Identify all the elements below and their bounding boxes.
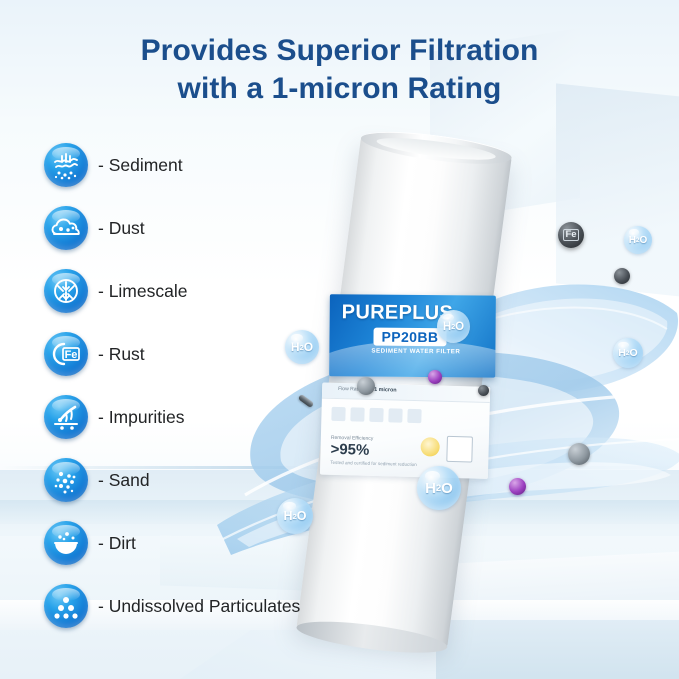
brand-name: PUREPLUS (342, 301, 454, 325)
h2o-bubble: H2O (285, 330, 319, 364)
feature-label: - Limescale (98, 281, 187, 302)
impurities-icon (44, 395, 88, 439)
feature-item-rust: Fe - Rust (44, 331, 145, 377)
feature-item-sand: - Sand (44, 457, 150, 503)
micron-rating-value: 1 micron (374, 387, 397, 394)
fe-symbol: Fe (563, 229, 578, 241)
h2o-bubble: H2O (624, 226, 652, 254)
svg-text:Fe: Fe (65, 349, 78, 361)
feature-label: - Dirt (98, 533, 136, 554)
particulates-icon (44, 584, 88, 628)
spec-icon-row (331, 407, 479, 425)
h2o-bubble: H2O (277, 498, 313, 534)
headline-line-1: Provides Superior Filtration (141, 34, 539, 67)
product-marketing-image: Provides Superior Filtration with a 1-mi… (0, 0, 679, 679)
spec-icon (350, 407, 364, 421)
gray-sphere-particle (357, 377, 375, 395)
rust-fe-icon: Fe (44, 332, 88, 376)
feature-item-dust: - Dust (44, 205, 145, 251)
h2o-bubble: H2O (417, 466, 461, 510)
product-spec-label: Flow Rate 1 micron Removal Efficiency >9… (320, 383, 490, 479)
spec-icon (407, 409, 421, 423)
sediment-icon (44, 143, 88, 187)
spec-icon (331, 407, 345, 421)
certification-mark-icon (446, 436, 473, 463)
dirt-icon (44, 521, 88, 565)
headline-line-2: with a 1-micron Rating (0, 70, 679, 108)
certification-seal-icon (420, 437, 439, 456)
rust-fe-particle: Fe (558, 222, 584, 248)
feature-item-dirt: - Dirt (44, 520, 136, 566)
dark-debris-particle (614, 268, 630, 284)
product-brand-label: PUREPLUS PP20BB SEDIMENT WATER FILTER (329, 294, 496, 377)
feature-label: - Sediment (98, 155, 183, 176)
h2o-bubble: H2O (613, 338, 643, 368)
dust-cloud-icon (44, 206, 88, 250)
feature-item-particulates: - Undissolved Particulates (44, 583, 300, 629)
spec-icon (369, 408, 383, 422)
feature-item-limescale: - Limescale (44, 268, 187, 314)
sand-icon (44, 458, 88, 502)
model-subtitle: SEDIMENT WATER FILTER (371, 348, 460, 356)
dark-debris-particle (478, 385, 489, 396)
feature-label: - Impurities (98, 407, 185, 428)
spec-icon (388, 408, 402, 422)
feature-label: - Rust (98, 344, 145, 365)
spec-header-strip: Flow Rate 1 micron (322, 383, 490, 403)
limescale-icon (44, 269, 88, 313)
gray-sphere-particle (568, 443, 590, 465)
model-number: PP20BB (373, 328, 446, 347)
feature-label: - Undissolved Particulates (98, 596, 300, 617)
h2o-bubble: H2O (437, 310, 470, 343)
spec-footnote: Tested and certified for sediment reduct… (330, 460, 417, 467)
feature-item-sediment: - Sediment (44, 142, 183, 188)
feature-item-impurities: - Impurities (44, 394, 185, 440)
efficiency-value: >95% (330, 441, 369, 459)
purple-particle (428, 370, 442, 384)
page-title: Provides Superior Filtration with a 1-mi… (0, 32, 679, 108)
purple-particle (509, 478, 526, 495)
feature-label: - Sand (98, 470, 150, 491)
feature-label: - Dust (98, 218, 145, 239)
